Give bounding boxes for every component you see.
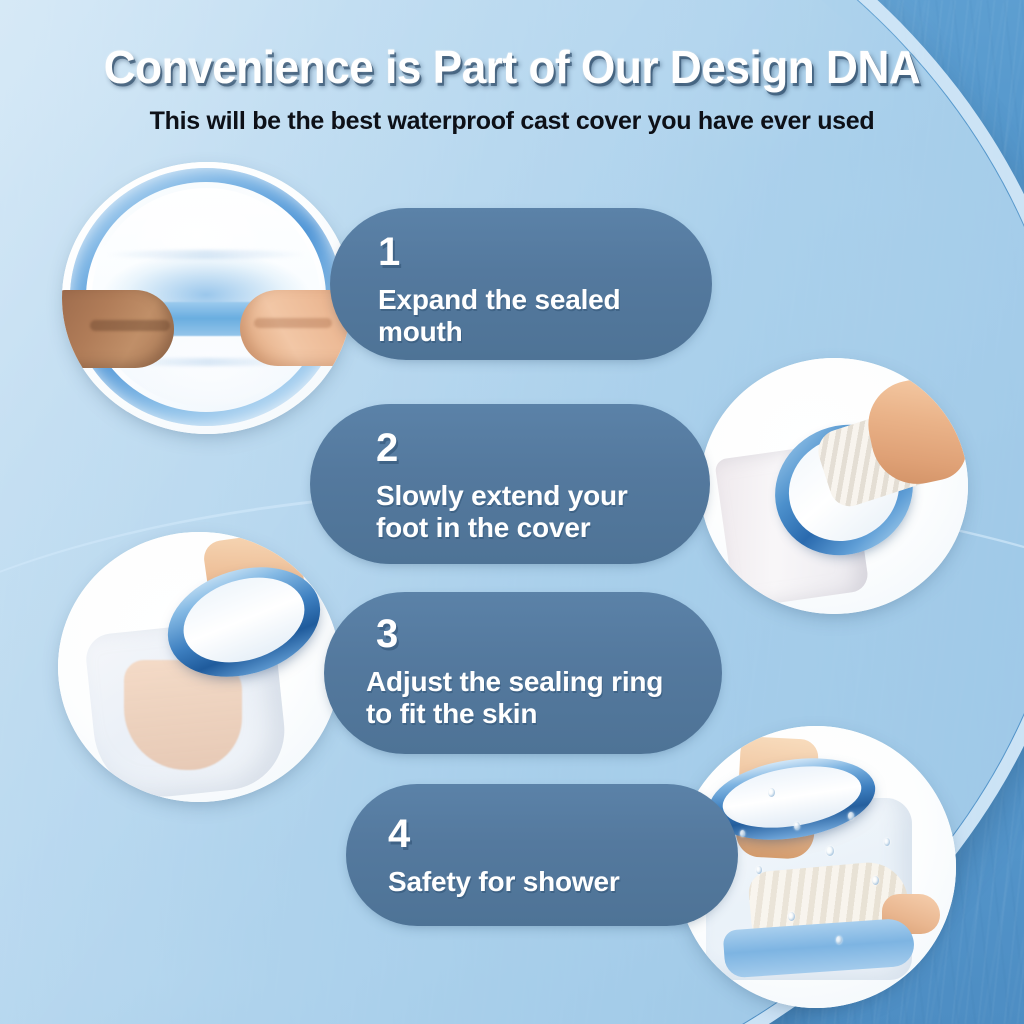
step-text-1-line2: mouth — [378, 316, 698, 348]
infographic-canvas: Convenience is Part of Our Design DNA Th… — [0, 0, 1024, 1024]
step-pill-1[interactable]: 1 Expand the sealed mouth — [330, 208, 712, 360]
step-number-4: 4 — [388, 814, 410, 854]
step-pill-3[interactable]: 3 Adjust the sealing ring to fit the ski… — [324, 592, 722, 754]
step-pill-2[interactable]: 2 Slowly extend your foot in the cover — [310, 404, 710, 564]
step-text-2-line1: Slowly extend your — [376, 480, 706, 512]
left-hand — [62, 290, 174, 368]
step-text-1-line1: Expand the sealed — [378, 284, 698, 316]
step-pill-4[interactable]: 4 Safety for shower — [346, 784, 738, 926]
page-subtitle: This will be the best waterproof cast co… — [0, 107, 1024, 136]
step-text-3-line1: Adjust the sealing ring — [366, 666, 716, 698]
step-text-2-line2: foot in the cover — [376, 512, 706, 544]
water-droplet — [848, 812, 854, 820]
step-text-3-line2: to fit the skin — [366, 698, 716, 730]
water-droplet — [788, 912, 795, 921]
water-droplet — [768, 788, 775, 797]
step-text-4-line1: Safety for shower — [388, 866, 728, 898]
step-number-1: 1 — [378, 232, 400, 272]
water-droplet — [826, 846, 834, 856]
water-droplet — [836, 936, 842, 944]
step-number-2: 2 — [376, 428, 398, 468]
water-droplet — [872, 876, 879, 885]
water-droplet — [794, 822, 800, 830]
photo-bandaged-foot-entering-cover — [700, 358, 968, 614]
fabric-crease — [106, 250, 306, 259]
water-droplet — [740, 830, 745, 837]
page-title: Convenience is Part of Our Design DNA — [20, 40, 1003, 94]
water-droplet — [756, 866, 762, 874]
photo-sealing-ring-at-ankle — [58, 532, 340, 802]
step-number-3: 3 — [376, 614, 398, 654]
water-droplet — [884, 838, 890, 846]
photo-hands-stretching-sealed-mouth — [62, 162, 352, 434]
